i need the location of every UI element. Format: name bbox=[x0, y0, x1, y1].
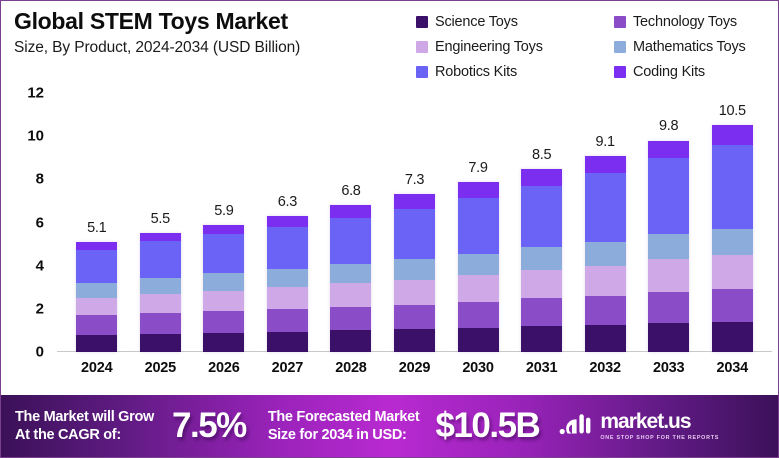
bar-segment[interactable] bbox=[585, 242, 626, 266]
y-axis-tick-label: 2 bbox=[36, 300, 44, 317]
brand-name: market.us bbox=[600, 411, 719, 432]
bar-segment[interactable] bbox=[203, 225, 244, 235]
bar-segment[interactable] bbox=[76, 283, 117, 298]
bar-segment[interactable] bbox=[267, 269, 308, 287]
bar-group[interactable]: 6.3 bbox=[256, 93, 320, 352]
bar-value-label: 7.3 bbox=[405, 172, 424, 188]
bar-segment[interactable] bbox=[330, 307, 371, 331]
bar-segment[interactable] bbox=[267, 216, 308, 227]
bar-segment[interactable] bbox=[394, 280, 435, 305]
bar-segment[interactable] bbox=[521, 186, 562, 248]
bar-segment[interactable] bbox=[585, 156, 626, 173]
bar-segment[interactable] bbox=[203, 333, 244, 352]
bar-value-label: 10.5 bbox=[719, 103, 746, 119]
y-axis-tick-label: 10 bbox=[27, 128, 44, 145]
bar-segment[interactable] bbox=[585, 296, 626, 325]
footer-banner: The Market will Grow At the CAGR of: 7.5… bbox=[1, 395, 779, 457]
bar-segment[interactable] bbox=[203, 291, 244, 312]
bar-group[interactable]: 6.8 bbox=[319, 93, 383, 352]
bar-segment[interactable] bbox=[140, 334, 181, 352]
bar-value-label: 5.5 bbox=[151, 211, 170, 227]
x-axis-tick-label: 2033 bbox=[637, 355, 701, 385]
bar-group[interactable]: 7.3 bbox=[383, 93, 447, 352]
bar-segment[interactable] bbox=[648, 323, 689, 352]
bar-value-label: 7.9 bbox=[468, 160, 487, 176]
bar-segment[interactable] bbox=[712, 229, 753, 255]
legend-swatch-icon bbox=[416, 16, 428, 28]
x-axis-tick-label: 2031 bbox=[510, 355, 574, 385]
bar-segment[interactable] bbox=[203, 234, 244, 273]
bar-group[interactable]: 5.5 bbox=[129, 93, 193, 352]
infographic-root: Global STEM Toys Market Size, By Product… bbox=[0, 0, 779, 458]
bar-series-container: 5.15.55.96.36.87.37.98.59.19.810.5 bbox=[57, 93, 772, 352]
x-axis-tick-label: 2026 bbox=[192, 355, 256, 385]
legend-item-label: Science Toys bbox=[435, 14, 518, 30]
bar-segment[interactable] bbox=[648, 158, 689, 235]
bar-segment[interactable] bbox=[712, 145, 753, 229]
forecast-size-label: The Forecasted Market Size for 2034 in U… bbox=[268, 408, 420, 444]
bar-group[interactable]: 7.9 bbox=[446, 93, 510, 352]
legend-swatch-icon bbox=[614, 66, 626, 78]
bar-segment[interactable] bbox=[712, 289, 753, 321]
legend-item-label: Mathematics Toys bbox=[633, 39, 746, 55]
bar-segment[interactable] bbox=[521, 270, 562, 298]
market-us-logo-text: market.us ONE STOP SHOP FOR THE REPORTS bbox=[600, 411, 719, 441]
bar-segment[interactable] bbox=[585, 325, 626, 352]
bar-segment[interactable] bbox=[394, 305, 435, 330]
bar-segment[interactable] bbox=[458, 302, 499, 328]
bar-segment[interactable] bbox=[140, 241, 181, 278]
bar-segment[interactable] bbox=[648, 234, 689, 259]
page-subtitle: Size, By Product, 2024-2034 (USD Billion… bbox=[14, 39, 414, 57]
market-us-logo[interactable]: market.us ONE STOP SHOP FOR THE REPORTS bbox=[559, 411, 719, 441]
bar-segment[interactable] bbox=[394, 209, 435, 260]
bar-group[interactable]: 5.1 bbox=[65, 93, 129, 352]
bar-group[interactable]: 9.1 bbox=[573, 93, 637, 352]
bar-segment[interactable] bbox=[76, 315, 117, 334]
bar-segment[interactable] bbox=[203, 311, 244, 333]
chart-plot: 024681012 5.15.55.96.36.87.37.98.59.19.8… bbox=[1, 93, 779, 385]
bar-segment[interactable] bbox=[330, 283, 371, 307]
stacked-bar[interactable] bbox=[648, 141, 689, 352]
forecast-size-value: $10.5B bbox=[435, 406, 539, 446]
bar-segment[interactable] bbox=[203, 273, 244, 290]
x-axis-tick-label: 2025 bbox=[129, 355, 193, 385]
bar-group[interactable]: 10.5 bbox=[700, 93, 764, 352]
bar-group[interactable]: 9.8 bbox=[637, 93, 701, 352]
bar-value-label: 6.8 bbox=[341, 183, 360, 199]
x-axis: 2024202520262027202820292030203120322033… bbox=[57, 355, 772, 385]
y-axis-tick-label: 6 bbox=[36, 214, 44, 231]
legend-item[interactable]: Engineering Toys bbox=[416, 39, 614, 55]
y-axis: 024681012 bbox=[1, 93, 57, 385]
x-axis-tick-label: 2034 bbox=[700, 355, 764, 385]
bar-group[interactable]: 8.5 bbox=[510, 93, 574, 352]
y-axis-tick-label: 8 bbox=[36, 171, 44, 188]
legend-item-label: Engineering Toys bbox=[435, 39, 543, 55]
bar-segment[interactable] bbox=[140, 313, 181, 334]
stacked-bar[interactable] bbox=[330, 205, 371, 352]
stacked-bar[interactable] bbox=[458, 182, 499, 352]
x-axis-tick-label: 2024 bbox=[65, 355, 129, 385]
plot-area: 5.15.55.96.36.87.37.98.59.19.810.5 bbox=[57, 93, 772, 385]
bar-segment[interactable] bbox=[458, 198, 499, 254]
bar-segment[interactable] bbox=[458, 254, 499, 276]
bar-segment[interactable] bbox=[585, 173, 626, 242]
bar-segment[interactable] bbox=[394, 329, 435, 352]
x-axis-tick-label: 2028 bbox=[319, 355, 383, 385]
bar-segment[interactable] bbox=[76, 298, 117, 315]
bar-segment[interactable] bbox=[140, 233, 181, 241]
legend-item[interactable]: Science Toys bbox=[416, 14, 614, 30]
bar-value-label: 6.3 bbox=[278, 194, 297, 210]
x-axis-tick-label: 2032 bbox=[573, 355, 637, 385]
stacked-bar[interactable] bbox=[585, 156, 626, 352]
bar-segment[interactable] bbox=[76, 242, 117, 250]
legend-item-label: Robotics Kits bbox=[435, 64, 517, 80]
cagr-label: The Market will Grow At the CAGR of: bbox=[15, 408, 154, 444]
stacked-bar[interactable] bbox=[394, 194, 435, 352]
bar-segment[interactable] bbox=[394, 259, 435, 280]
legend-item[interactable]: Mathematics Toys bbox=[614, 39, 772, 55]
stacked-bar[interactable] bbox=[76, 242, 117, 352]
stacked-bar[interactable] bbox=[521, 169, 562, 352]
stacked-bar[interactable] bbox=[140, 233, 181, 352]
stacked-bar[interactable] bbox=[712, 125, 753, 352]
title-block: Global STEM Toys Market Size, By Product… bbox=[14, 8, 414, 57]
bar-segment[interactable] bbox=[712, 255, 753, 290]
legend-item-label: Coding Kits bbox=[633, 64, 705, 80]
legend-swatch-icon bbox=[614, 41, 626, 53]
bar-segment[interactable] bbox=[267, 287, 308, 309]
legend-swatch-icon bbox=[416, 66, 428, 78]
cagr-label-line2: At the CAGR of: bbox=[15, 426, 154, 444]
bar-segment[interactable] bbox=[267, 309, 308, 332]
cagr-value: 7.5% bbox=[172, 406, 246, 446]
y-axis-tick-label: 4 bbox=[36, 257, 44, 274]
bar-segment[interactable] bbox=[648, 141, 689, 158]
bar-value-label: 5.1 bbox=[87, 220, 106, 236]
bar-segment[interactable] bbox=[140, 278, 181, 294]
bar-segment[interactable] bbox=[330, 218, 371, 263]
bar-segment[interactable] bbox=[521, 169, 562, 186]
legend-item[interactable]: Robotics Kits bbox=[416, 64, 614, 80]
legend-swatch-icon bbox=[416, 41, 428, 53]
legend-item[interactable]: Technology Toys bbox=[614, 14, 772, 30]
y-axis-tick-label: 12 bbox=[27, 85, 44, 102]
legend-item[interactable]: Coding Kits bbox=[614, 64, 772, 80]
market-us-logo-icon bbox=[559, 411, 593, 441]
bar-segment[interactable] bbox=[521, 247, 562, 270]
brand-tagline: ONE STOP SHOP FOR THE REPORTS bbox=[600, 435, 719, 441]
bar-segment[interactable] bbox=[330, 264, 371, 283]
bar-segment[interactable] bbox=[76, 250, 117, 283]
bar-segment[interactable] bbox=[648, 259, 689, 291]
forecast-size-label-line1: The Forecasted Market bbox=[268, 408, 420, 426]
bar-segment[interactable] bbox=[330, 205, 371, 218]
page-title: Global STEM Toys Market bbox=[14, 8, 414, 34]
bar-segment[interactable] bbox=[458, 328, 499, 352]
x-axis-tick-label: 2030 bbox=[446, 355, 510, 385]
bar-value-label: 9.1 bbox=[596, 134, 615, 150]
bar-value-label: 5.9 bbox=[214, 203, 233, 219]
legend-swatch-icon bbox=[614, 16, 626, 28]
cagr-label-line1: The Market will Grow bbox=[15, 408, 154, 426]
bar-segment[interactable] bbox=[458, 275, 499, 302]
bar-segment[interactable] bbox=[267, 227, 308, 269]
legend-item-label: Technology Toys bbox=[633, 14, 737, 30]
bar-segment[interactable] bbox=[458, 182, 499, 198]
bar-segment[interactable] bbox=[585, 266, 626, 296]
bar-value-label: 8.5 bbox=[532, 147, 551, 163]
bar-segment[interactable] bbox=[648, 292, 689, 323]
bar-segment[interactable] bbox=[140, 294, 181, 313]
chart-legend: Science ToysTechnology ToysEngineering T… bbox=[416, 9, 772, 84]
bar-segment[interactable] bbox=[521, 298, 562, 326]
bar-group[interactable]: 5.9 bbox=[192, 93, 256, 352]
forecast-size-label-line2: Size for 2034 in USD: bbox=[268, 426, 420, 444]
bar-segment[interactable] bbox=[394, 194, 435, 208]
bar-segment[interactable] bbox=[76, 335, 117, 352]
x-axis-tick-label: 2029 bbox=[383, 355, 447, 385]
stacked-bar[interactable] bbox=[267, 216, 308, 352]
x-axis-tick-label: 2027 bbox=[256, 355, 320, 385]
bar-segment[interactable] bbox=[330, 330, 371, 352]
y-axis-tick-label: 0 bbox=[36, 344, 44, 361]
bar-segment[interactable] bbox=[712, 322, 753, 352]
bar-segment[interactable] bbox=[521, 326, 562, 352]
bar-segment[interactable] bbox=[712, 125, 753, 144]
bar-segment[interactable] bbox=[267, 332, 308, 353]
bar-value-label: 9.8 bbox=[659, 118, 678, 134]
chart-header: Global STEM Toys Market Size, By Product… bbox=[1, 1, 779, 93]
stacked-bar[interactable] bbox=[203, 225, 244, 352]
